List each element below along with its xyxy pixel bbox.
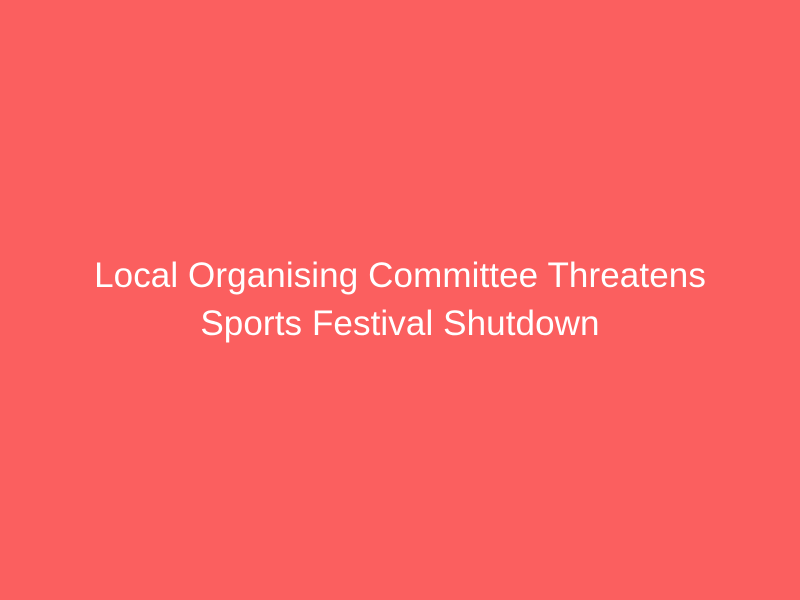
page-title: Local Organising Committee Threatens Spo… — [40, 252, 760, 348]
headline-card: Local Organising Committee Threatens Spo… — [0, 0, 800, 600]
